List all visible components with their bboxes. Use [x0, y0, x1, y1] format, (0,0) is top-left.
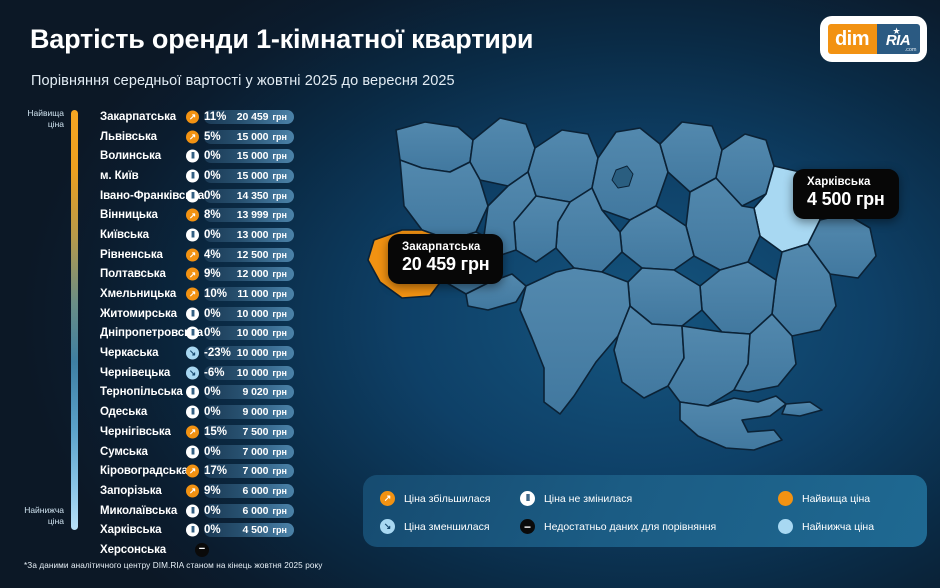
price-value: 15 000: [237, 150, 269, 162]
page-title: Вартість оренди 1-кімнатної квартири: [30, 24, 533, 55]
oblast-lviv: [400, 160, 488, 240]
currency-label: грн: [272, 506, 287, 516]
currency-label: грн: [272, 486, 287, 496]
arrow-down-icon: ↘: [186, 347, 199, 360]
arrow-up-icon: ↗: [186, 465, 199, 478]
change-percent: 0%: [204, 150, 221, 162]
change-percent: 0%: [204, 446, 221, 458]
price-value: 4 500: [243, 524, 269, 536]
currency-label: грн: [272, 466, 287, 476]
pause-icon: II: [186, 169, 199, 182]
list-item: м. Київ15 000грнII0%: [100, 166, 350, 186]
change-percent: 0%: [204, 524, 221, 536]
currency-label: грн: [272, 348, 287, 358]
callout-kharkiv[interactable]: Харківська 4 500 грн: [793, 169, 899, 219]
price-value: 10 000: [237, 347, 269, 359]
minus-icon: −: [520, 519, 535, 534]
change-percent: 11%: [204, 111, 226, 123]
change-percent: 0%: [204, 229, 221, 241]
list-item: Запорізька6 000грн↗9%: [100, 481, 350, 501]
change-percent: 0%: [204, 406, 221, 418]
logo-ria-block: ★ RIA .com: [877, 24, 920, 54]
legend-label: Ціна збільшилася: [404, 493, 491, 505]
price-value: 15 000: [237, 170, 269, 182]
dot-blue-icon: [778, 519, 793, 534]
callout-price: 20 459 грн: [402, 254, 489, 275]
pause-icon: II: [186, 524, 199, 537]
price-value: 10 000: [237, 308, 269, 320]
price-value: 10 000: [237, 367, 269, 379]
price-value: 7 000: [243, 465, 269, 477]
price-gradient-bar: [71, 110, 78, 530]
list-item: Харківська4 500грнII0%: [100, 520, 350, 540]
list-item: Хмельницька11 000грн↗10%: [100, 284, 350, 304]
scale-label-highest-line2: ціна: [0, 119, 64, 130]
currency-label: грн: [272, 132, 287, 142]
list-item: Івано-Франківська14 350грнII0%: [100, 186, 350, 206]
dimria-logo[interactable]: dim ★ RIA .com: [820, 16, 927, 62]
region-name: Херсонська: [100, 544, 204, 556]
price-value: 13 000: [237, 229, 269, 241]
pause-icon: II: [520, 491, 535, 506]
arrow-up-icon: ↗: [186, 484, 199, 497]
change-percent: 0%: [204, 386, 221, 398]
arrow-up-icon: ↗: [186, 248, 199, 261]
callout-price: 4 500 грн: [807, 189, 885, 210]
price-value: 7 000: [243, 446, 269, 458]
change-percent: 0%: [204, 505, 221, 517]
region-crimea-tail: [782, 402, 822, 416]
change-percent: 0%: [204, 170, 221, 182]
callout-zakarpattia[interactable]: Закарпатська 20 459 грн: [388, 234, 503, 284]
pause-icon: II: [186, 189, 199, 202]
legend-panel: ↗ Ціна збільшилася ↘ Ціна зменшилася II …: [363, 475, 927, 547]
list-item: Вінницька13 999грн↗8%: [100, 205, 350, 225]
currency-label: грн: [272, 250, 287, 260]
change-percent: 0%: [204, 327, 221, 339]
legend-item-price-increased: ↗ Ціна збільшилася: [380, 491, 491, 506]
list-item: Чернівецька10 000грн↘-6%: [100, 363, 350, 383]
region-crimea: [680, 396, 786, 450]
legend-label: Ціна зменшилася: [404, 521, 490, 533]
arrow-up-icon: ↗: [186, 268, 199, 281]
currency-label: грн: [272, 387, 287, 397]
price-value: 11 000: [237, 288, 268, 300]
price-value: 6 000: [243, 485, 269, 497]
callout-region-name: Закарпатська: [402, 241, 489, 253]
legend-item-no-data: − Недостатньо даних для порівняння: [520, 519, 716, 534]
currency-label: грн: [272, 447, 287, 457]
scale-label-highest-line1: Найвища: [0, 108, 64, 119]
list-item: Дніпропетровська10 000грнII0%: [100, 324, 350, 344]
legend-item-price-decreased: ↘ Ціна зменшилася: [380, 519, 490, 534]
arrow-up-icon: ↗: [186, 110, 199, 123]
currency-label: грн: [272, 210, 287, 220]
currency-label: грн: [272, 171, 287, 181]
arrow-down-icon: ↘: [380, 519, 395, 534]
change-percent: 0%: [204, 308, 221, 320]
price-value: 13 999: [237, 209, 269, 221]
list-item: Чернігівська7 500грн↗15%: [100, 422, 350, 442]
legend-item-highest-price: Найвища ціна: [778, 491, 870, 506]
arrow-up-icon: ↗: [186, 209, 199, 222]
change-percent: -23%: [204, 347, 231, 359]
star-icon: ★: [893, 26, 901, 37]
legend-label: Найнижча ціна: [802, 521, 874, 533]
dot-orange-icon: [778, 491, 793, 506]
currency-label: грн: [272, 112, 287, 122]
legend-label: Ціна не змінилася: [544, 493, 632, 505]
list-item: Кіровоградська7 000грн↗17%: [100, 461, 350, 481]
pause-icon: II: [186, 406, 199, 419]
scale-label-lowest-line1: Найнижча: [0, 505, 64, 516]
currency-label: грн: [272, 191, 287, 201]
oblast-odesa: [520, 268, 630, 414]
price-value: 15 000: [237, 131, 269, 143]
list-item: Одеська9 000грнII0%: [100, 402, 350, 422]
pause-icon: II: [186, 445, 199, 458]
ukraine-map: [330, 110, 940, 480]
list-item: Рівненська12 500грн↗4%: [100, 245, 350, 265]
currency-label: грн: [272, 407, 287, 417]
scale-label-lowest-line2: ціна: [0, 516, 64, 527]
currency-label: грн: [272, 525, 287, 535]
scale-label-highest: Найвища ціна: [0, 108, 64, 129]
logo-dim-text: dim: [828, 24, 877, 54]
minus-icon: −: [195, 543, 209, 557]
change-percent: 10%: [204, 288, 227, 300]
price-value: 20 459: [237, 111, 269, 123]
logo-com-text: .com: [905, 47, 917, 53]
logo-inner: dim ★ RIA .com: [828, 24, 920, 54]
change-percent: 5%: [204, 131, 221, 143]
pause-icon: II: [186, 327, 199, 340]
arrow-up-icon: ↗: [186, 288, 199, 301]
infographic-root: Вартість оренди 1-кімнатної квартири Пор…: [0, 0, 940, 588]
list-item: Львівська15 000грн↗5%: [100, 127, 350, 147]
price-value: 10 000: [237, 327, 269, 339]
price-value: 9 020: [243, 386, 269, 398]
currency-label: грн: [272, 230, 287, 240]
currency-label: грн: [272, 368, 287, 378]
scale-label-lowest: Найнижча ціна: [0, 505, 64, 526]
legend-label: Недостатньо даних для порівняння: [544, 521, 716, 533]
price-value: 6 000: [243, 505, 269, 517]
pause-icon: II: [186, 386, 199, 399]
currency-label: грн: [272, 289, 287, 299]
list-item: Херсонська−: [100, 540, 350, 560]
callout-region-name: Харківська: [807, 176, 885, 188]
page-subtitle: Порівняння середньої вартості у жовтні 2…: [31, 73, 455, 89]
list-item: Закарпатська20 459грн↗11%: [100, 107, 350, 127]
list-item: Тернопільська9 020грнII0%: [100, 383, 350, 403]
price-value: 12 000: [237, 268, 269, 280]
list-item: Миколаївська6 000грнII0%: [100, 501, 350, 521]
currency-label: грн: [272, 427, 287, 437]
pause-icon: II: [186, 150, 199, 163]
list-item: Черкаська10 000грн↘-23%: [100, 343, 350, 363]
price-value: 9 000: [243, 406, 269, 418]
region-price-list: Закарпатська20 459грн↗11%Львівська15 000…: [100, 107, 350, 560]
legend-label: Найвища ціна: [802, 493, 870, 505]
currency-label: грн: [272, 269, 287, 279]
pause-icon: II: [186, 307, 199, 320]
change-percent: 17%: [204, 465, 227, 477]
price-value: 12 500: [237, 249, 269, 261]
pause-icon: II: [186, 228, 199, 241]
legend-item-lowest-price: Найнижча ціна: [778, 519, 874, 534]
pause-icon: II: [186, 504, 199, 517]
list-item: Волинська15 000грнII0%: [100, 146, 350, 166]
change-percent: 8%: [204, 209, 221, 221]
change-percent: 4%: [204, 249, 221, 261]
change-percent: 0%: [204, 190, 221, 202]
arrow-up-icon: ↗: [186, 425, 199, 438]
list-item: Житомирська10 000грнII0%: [100, 304, 350, 324]
list-item: Київська13 000грнII0%: [100, 225, 350, 245]
currency-label: грн: [272, 309, 287, 319]
arrow-down-icon: ↘: [186, 366, 199, 379]
currency-label: грн: [272, 151, 287, 161]
change-percent: 9%: [204, 268, 221, 280]
price-value: 14 350: [237, 190, 269, 202]
list-item: Сумська7 000грнII0%: [100, 442, 350, 462]
currency-label: грн: [272, 328, 287, 338]
arrow-up-icon: ↗: [186, 130, 199, 143]
change-percent: -6%: [204, 367, 224, 379]
footnote: *За даними аналітичного центру DIM.RIA с…: [24, 561, 322, 570]
legend-item-price-unchanged: II Ціна не змінилася: [520, 491, 632, 506]
price-value: 7 500: [243, 426, 269, 438]
change-percent: 15%: [204, 426, 227, 438]
change-percent: 9%: [204, 485, 221, 497]
list-item: Полтавська12 000грн↗9%: [100, 265, 350, 285]
arrow-up-icon: ↗: [380, 491, 395, 506]
